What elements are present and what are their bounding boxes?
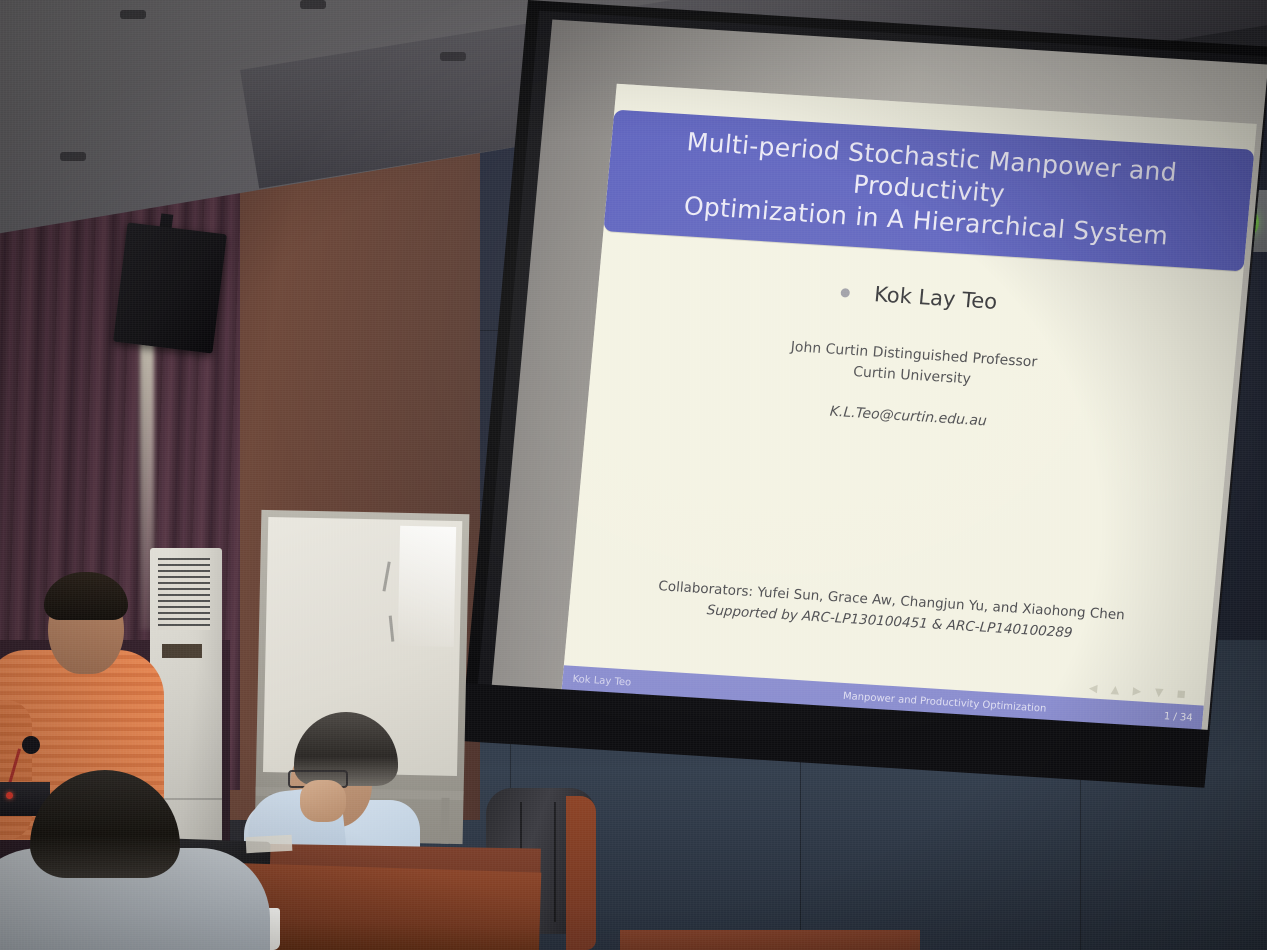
page-indicator: 1 / 34 [1105, 707, 1193, 723]
chair-seam [554, 802, 556, 922]
ceiling-light-fixture [60, 152, 86, 161]
funding-block: Collaborators: Yufei Sun, Grace Aw, Chan… [655, 576, 1125, 648]
whiteboard-marking [389, 616, 395, 642]
desk-right [620, 930, 920, 950]
ceiling-speaker-icon [113, 222, 227, 353]
microphone-icon [22, 736, 40, 754]
affiliation-block: John Curtin Distinguished Professor Curt… [788, 337, 1038, 394]
ac-grille-icon [158, 558, 210, 630]
ceiling-light-fixture [300, 0, 326, 9]
standing-presenter-arm [0, 700, 32, 840]
whiteboard-glare [398, 526, 457, 647]
slide-body: Kok Lay Teo John Curtin Distinguished Pr… [564, 231, 1244, 705]
bullet-icon [841, 288, 851, 298]
microphone-led-indicator [6, 792, 13, 799]
ac-control-panel[interactable] [162, 644, 202, 658]
presentation-room-photo: Multi-period Stochastic Manpower and Pro… [0, 0, 1267, 950]
seated-attendee-hand [300, 780, 346, 822]
beamer-slide: Multi-period Stochastic Manpower and Pro… [561, 84, 1256, 732]
whiteboard-marking [382, 561, 390, 591]
paper-sheet[interactable] [246, 835, 293, 853]
author-email: K.L.Teo@curtin.edu.au [829, 404, 987, 430]
ceiling-light-fixture [120, 10, 146, 19]
chair-wood-trim [566, 796, 596, 950]
author-row: Kok Lay Teo [840, 280, 998, 314]
projected-slide-area: Multi-period Stochastic Manpower and Pro… [561, 84, 1256, 732]
author-name: Kok Lay Teo [873, 282, 998, 314]
whiteboard-leg [441, 798, 450, 844]
ceiling-light-fixture [440, 52, 466, 61]
projection-screen: Multi-period Stochastic Manpower and Pro… [461, 0, 1267, 784]
